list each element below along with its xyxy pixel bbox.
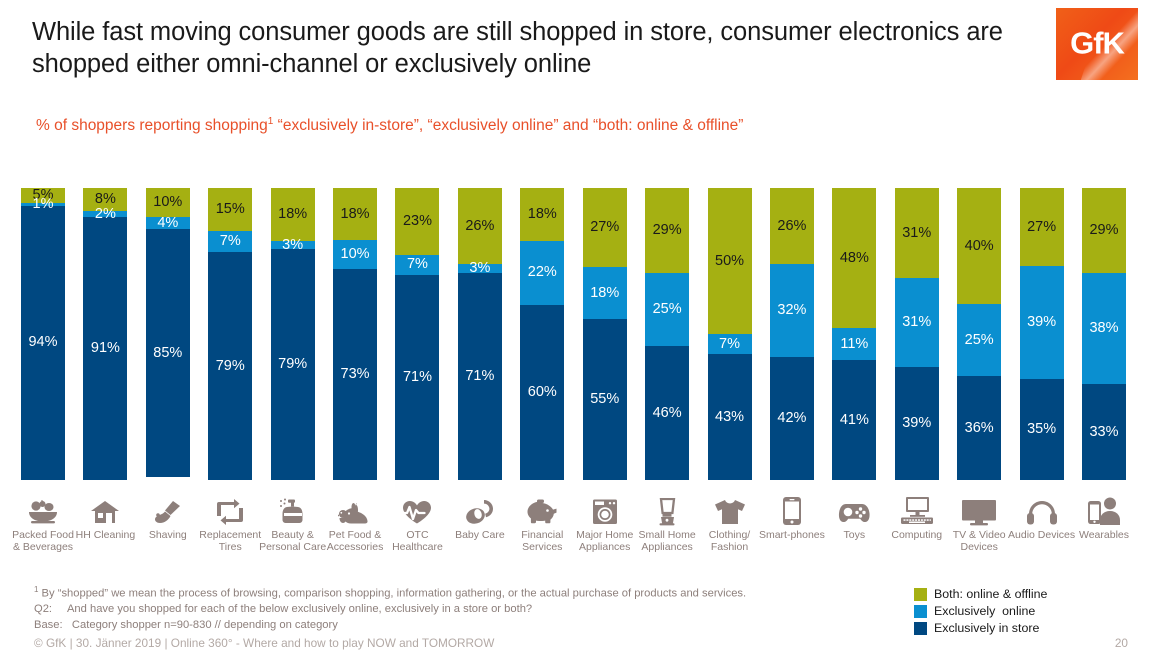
category-label: Shaving <box>133 529 203 541</box>
stacked-bar-chart: 5%1%94%8%2%91%10%4%85%15%7%79%18%3%79%18… <box>0 188 1150 493</box>
bar-value-label: 35% <box>1027 422 1056 437</box>
desktop-computer-icon <box>882 492 952 526</box>
bar-value-label: 4% <box>157 216 178 231</box>
fruit-bowl-icon <box>8 492 78 526</box>
bar-value-label: 7% <box>719 337 740 352</box>
footnote-definition: 1 By “shopped” we mean the process of br… <box>34 582 914 602</box>
razor-icon <box>133 492 203 526</box>
page-title: While fast moving consumer goods are sti… <box>32 16 1032 80</box>
bar-value-label: 29% <box>1089 223 1118 238</box>
bar-segment-store: 73% <box>333 269 377 480</box>
bar-value-label: 25% <box>653 302 682 317</box>
legend-swatch <box>914 588 927 601</box>
bar-segment-store: 41% <box>832 360 876 480</box>
bar-value-label: 55% <box>590 392 619 407</box>
bar-value-label: 7% <box>220 234 241 249</box>
category-item: Smart-phones <box>757 492 827 541</box>
bar-segment-online: 7% <box>708 334 752 354</box>
bar-column: 5%1%94% <box>21 188 65 488</box>
bar-column: 15%7%79% <box>208 188 252 488</box>
bar-segment-store: 55% <box>583 319 627 480</box>
bar-segment-both: 15% <box>208 188 252 231</box>
bar-value-label: 23% <box>403 214 432 229</box>
slide-root: While fast moving consumer goods are sti… <box>0 0 1150 658</box>
category-label: Computing <box>882 529 952 541</box>
bar-value-label: 2% <box>95 207 116 222</box>
stacked-bar[interactable]: 48%11%41% <box>832 188 876 480</box>
bar-segment-online: 38% <box>1082 273 1126 384</box>
bar-value-label: 26% <box>777 219 806 234</box>
bar-value-label: 73% <box>341 367 370 382</box>
stacked-bar[interactable]: 8%2%91% <box>83 188 127 480</box>
bar-value-label: 22% <box>528 265 557 280</box>
legend-item[interactable]: Both: online & offline <box>914 586 1104 602</box>
category-axis: Packed Food & BeveragesHH CleaningShavin… <box>0 492 1150 562</box>
bar-value-label: 25% <box>965 333 994 348</box>
stacked-bar[interactable]: 27%39%35% <box>1020 188 1064 480</box>
legend-label: Exclusively online <box>934 605 1035 618</box>
bar-value-label: 10% <box>341 247 370 262</box>
bar-segment-both: 18% <box>333 188 377 240</box>
subtitle-post: “exclusively in-store”, “exclusively onl… <box>273 117 743 134</box>
bar-column: 48%11%41% <box>832 188 876 488</box>
bar-segment-online: 3% <box>458 264 502 273</box>
rabbit-bird-icon <box>320 492 390 526</box>
category-item: Pet Food & Accessories <box>320 492 390 553</box>
subtitle-pre: % of shoppers reporting shopping <box>36 117 268 134</box>
legend-label: Both: online & offline <box>934 588 1047 601</box>
bar-segment-store: 42% <box>770 357 814 480</box>
bar-segment-online: 25% <box>957 304 1001 376</box>
bar-value-label: 18% <box>278 207 307 222</box>
spray-bottle-icon <box>258 492 328 526</box>
stacked-bar[interactable]: 18%3%79% <box>271 188 315 480</box>
stacked-bar[interactable]: 29%25%46% <box>645 188 689 480</box>
bar-value-label: 33% <box>1089 425 1118 440</box>
category-item: HH Cleaning <box>70 492 140 541</box>
stacked-bar[interactable]: 18%10%73% <box>333 188 377 480</box>
bar-value-label: 38% <box>1089 321 1118 336</box>
gamepad-icon <box>819 492 889 526</box>
bar-segment-both: 27% <box>583 188 627 267</box>
bar-value-label: 29% <box>653 223 682 238</box>
bar-value-label: 10% <box>153 195 182 210</box>
bar-segment-both: 29% <box>1082 188 1126 273</box>
stacked-bar[interactable]: 27%18%55% <box>583 188 627 480</box>
category-item: TV & Video Devices <box>944 492 1014 553</box>
bar-column: 18%22%60% <box>520 188 564 488</box>
bar-column: 26%32%42% <box>770 188 814 488</box>
bar-segment-store: 85% <box>146 229 190 477</box>
bar-value-label: 3% <box>282 238 303 253</box>
bar-value-label: 8% <box>95 192 116 207</box>
category-label: Replacement Tires <box>195 529 265 553</box>
category-label: TV & Video Devices <box>944 529 1014 553</box>
bar-segment-both: 26% <box>770 188 814 264</box>
footer-copyright: © GfK | 30. Jänner 2019 | Online 360° - … <box>34 636 494 650</box>
category-item: Audio Devices <box>1007 492 1077 541</box>
stacked-bar[interactable]: 5%1%94% <box>21 188 65 480</box>
category-label: Major Home Appliances <box>570 529 640 553</box>
footnote-base: Base: Category shopper n=90-830 // depen… <box>34 618 914 634</box>
bar-column: 18%3%79% <box>271 188 315 488</box>
category-item: Clothing/ Fashion <box>695 492 765 553</box>
bar-value-label: 15% <box>216 202 245 217</box>
bar-column: 27%39%35% <box>1020 188 1064 488</box>
bar-value-label: 91% <box>91 341 120 356</box>
bar-segment-store: 33% <box>1082 384 1126 480</box>
bar-segment-online: 11% <box>832 328 876 360</box>
bar-segment-online: 7% <box>395 255 439 275</box>
category-item: Major Home Appliances <box>570 492 640 553</box>
bar-segment-online: 4% <box>146 217 190 229</box>
bar-value-label: 42% <box>777 411 806 426</box>
category-label: Clothing/ Fashion <box>695 529 765 553</box>
footnotes: 1 By “shopped” we mean the process of br… <box>34 582 914 633</box>
category-item: Packed Food & Beverages <box>8 492 78 553</box>
bar-column: 40%25%36% <box>957 188 1001 488</box>
legend-item[interactable]: Exclusively online <box>914 603 1104 619</box>
bar-value-label: 79% <box>278 357 307 372</box>
bar-column: 29%25%46% <box>645 188 689 488</box>
footnote-text: By “shopped” we mean the process of brow… <box>38 588 746 600</box>
bar-value-label: 3% <box>469 261 490 276</box>
wearable-person-icon <box>1069 492 1139 526</box>
stacked-bar[interactable]: 31%31%39% <box>895 188 939 480</box>
stacked-bar[interactable]: 40%25%36% <box>957 188 1001 480</box>
bar-value-label: 71% <box>403 370 432 385</box>
category-label: Beauty & Personal Care <box>258 529 328 553</box>
bar-segment-both: 10% <box>146 188 190 217</box>
category-item: Shaving <box>133 492 203 541</box>
logo-text: GfK <box>1056 25 1138 61</box>
bar-segment-store: 35% <box>1020 379 1064 480</box>
tire-recycle-icon <box>195 492 265 526</box>
bar-value-label: 50% <box>715 254 744 269</box>
bar-segment-both: 18% <box>520 188 564 241</box>
bar-segment-online: 7% <box>208 231 252 251</box>
tshirt-icon <box>695 492 765 526</box>
bar-value-label: 40% <box>965 239 994 254</box>
bar-segment-store: 43% <box>708 354 752 480</box>
headphones-icon <box>1007 492 1077 526</box>
bar-column: 50%7%43% <box>708 188 752 488</box>
bar-segment-online: 18% <box>583 267 627 320</box>
bar-segment-both: 40% <box>957 188 1001 304</box>
bar-segment-online: 10% <box>333 240 377 269</box>
category-label: Wearables <box>1069 529 1139 541</box>
bar-value-label: 94% <box>28 335 57 350</box>
bar-value-label: 48% <box>840 251 869 266</box>
bar-segment-both: 50% <box>708 188 752 334</box>
category-label: Financial Services <box>507 529 577 553</box>
category-item: Small Home Appliances <box>632 492 702 553</box>
footnote-question: Q2: And have you shopped for each of the… <box>34 602 914 618</box>
bar-value-label: 27% <box>590 220 619 235</box>
television-icon <box>944 492 1014 526</box>
bar-value-label: 36% <box>965 421 994 436</box>
page-subtitle: % of shoppers reporting shopping1 “exclu… <box>36 112 1046 136</box>
bar-segment-both: 31% <box>895 188 939 278</box>
category-label: Smart-phones <box>757 529 827 541</box>
category-label: Audio Devices <box>1007 529 1077 541</box>
chart-legend: Both: online & offlineExclusively online… <box>914 586 1104 637</box>
bar-segment-both: 48% <box>832 188 876 328</box>
bar-value-label: 31% <box>902 315 931 330</box>
smartphone-icon <box>757 492 827 526</box>
bar-segment-both: 27% <box>1020 188 1064 266</box>
bar-value-label: 11% <box>840 337 868 352</box>
bar-column: 26%3%71% <box>458 188 502 488</box>
category-item: Beauty & Personal Care <box>258 492 328 553</box>
bar-column: 29%38%33% <box>1082 188 1126 488</box>
category-item: Replacement Tires <box>195 492 265 553</box>
category-item: Toys <box>819 492 889 541</box>
category-label: HH Cleaning <box>70 529 140 541</box>
washing-machine-icon <box>570 492 640 526</box>
bar-value-label: 18% <box>341 207 370 222</box>
stacked-bar[interactable]: 23%7%71% <box>395 188 439 480</box>
legend-label: Exclusively in store <box>934 622 1039 635</box>
bar-segment-both: 29% <box>645 188 689 273</box>
bar-value-label: 39% <box>1027 315 1056 330</box>
legend-swatch <box>914 622 927 635</box>
stacked-bar[interactable]: 26%3%71% <box>458 188 502 480</box>
stacked-bar[interactable]: 18%22%60% <box>520 188 564 480</box>
bar-column: 10%4%85% <box>146 188 190 488</box>
category-item: OTC Healthcare <box>382 492 452 553</box>
category-label: Pet Food & Accessories <box>320 529 390 553</box>
bar-segment-store: 71% <box>458 273 502 480</box>
bar-value-label: 46% <box>653 406 682 421</box>
pacifier-icon <box>445 492 515 526</box>
category-label: Baby Care <box>445 529 515 541</box>
bar-segment-both: 18% <box>271 188 315 241</box>
bar-segment-store: 60% <box>520 305 564 480</box>
bar-segment-online: 25% <box>645 273 689 346</box>
bar-segment-store: 71% <box>395 275 439 480</box>
category-label: Toys <box>819 529 889 541</box>
bar-value-label: 60% <box>528 385 557 400</box>
heart-pulse-icon <box>382 492 452 526</box>
bar-segment-store: 79% <box>271 249 315 480</box>
bar-value-label: 7% <box>407 257 428 272</box>
bar-value-label: 43% <box>715 410 744 425</box>
category-item: Financial Services <box>507 492 577 553</box>
bar-value-label: 18% <box>590 286 619 301</box>
bar-value-label: 79% <box>216 359 245 374</box>
bar-value-label: 26% <box>465 219 494 234</box>
bar-value-label: 31% <box>902 226 931 241</box>
house-icon <box>70 492 140 526</box>
bar-value-label: 41% <box>840 413 869 428</box>
bar-segment-store: 94% <box>21 206 65 480</box>
category-label: Small Home Appliances <box>632 529 702 553</box>
bar-segment-online: 3% <box>271 241 315 250</box>
stacked-bar[interactable]: 29%38%33% <box>1082 188 1126 480</box>
bar-value-label: 18% <box>528 207 557 222</box>
bar-segment-online: 22% <box>520 241 564 305</box>
piggy-bank-icon <box>507 492 577 526</box>
legend-swatch <box>914 605 927 618</box>
bar-segment-online: 32% <box>770 264 814 357</box>
bar-segment-store: 39% <box>895 367 939 480</box>
bar-segment-online: 39% <box>1020 266 1064 379</box>
bar-column: 18%10%73% <box>333 188 377 488</box>
blender-icon <box>632 492 702 526</box>
bar-column: 27%18%55% <box>583 188 627 488</box>
bar-segment-store: 91% <box>83 217 127 480</box>
bar-segment-store: 79% <box>208 252 252 480</box>
bar-value-label: 32% <box>777 303 806 318</box>
bar-column: 31%31%39% <box>895 188 939 488</box>
bar-value-label: 71% <box>465 369 494 384</box>
bar-column: 8%2%91% <box>83 188 127 488</box>
bar-segment-store: 46% <box>645 346 689 480</box>
category-item: Baby Care <box>445 492 515 541</box>
bar-segment-online: 31% <box>895 278 939 368</box>
bar-value-label: 39% <box>902 416 931 431</box>
stacked-bar[interactable]: 15%7%79% <box>208 188 252 480</box>
stacked-bar[interactable]: 10%4%85% <box>146 188 190 480</box>
bar-value-label: 1% <box>33 197 54 212</box>
stacked-bar[interactable]: 50%7%43% <box>708 188 752 480</box>
page-number: 20 <box>1115 636 1128 650</box>
bar-column: 23%7%71% <box>395 188 439 488</box>
gfk-logo: GfK <box>1056 8 1138 80</box>
bar-value-label: 85% <box>153 346 182 361</box>
category-item: Wearables <box>1069 492 1139 541</box>
category-label: OTC Healthcare <box>382 529 452 553</box>
bar-value-label: 27% <box>1027 220 1056 235</box>
stacked-bar[interactable]: 26%32%42% <box>770 188 814 480</box>
legend-item[interactable]: Exclusively in store <box>914 620 1104 636</box>
category-item: Computing <box>882 492 952 541</box>
category-label: Packed Food & Beverages <box>8 529 78 553</box>
bar-segment-both: 26% <box>458 188 502 264</box>
bar-segment-store: 36% <box>957 376 1001 480</box>
bar-segment-both: 23% <box>395 188 439 255</box>
